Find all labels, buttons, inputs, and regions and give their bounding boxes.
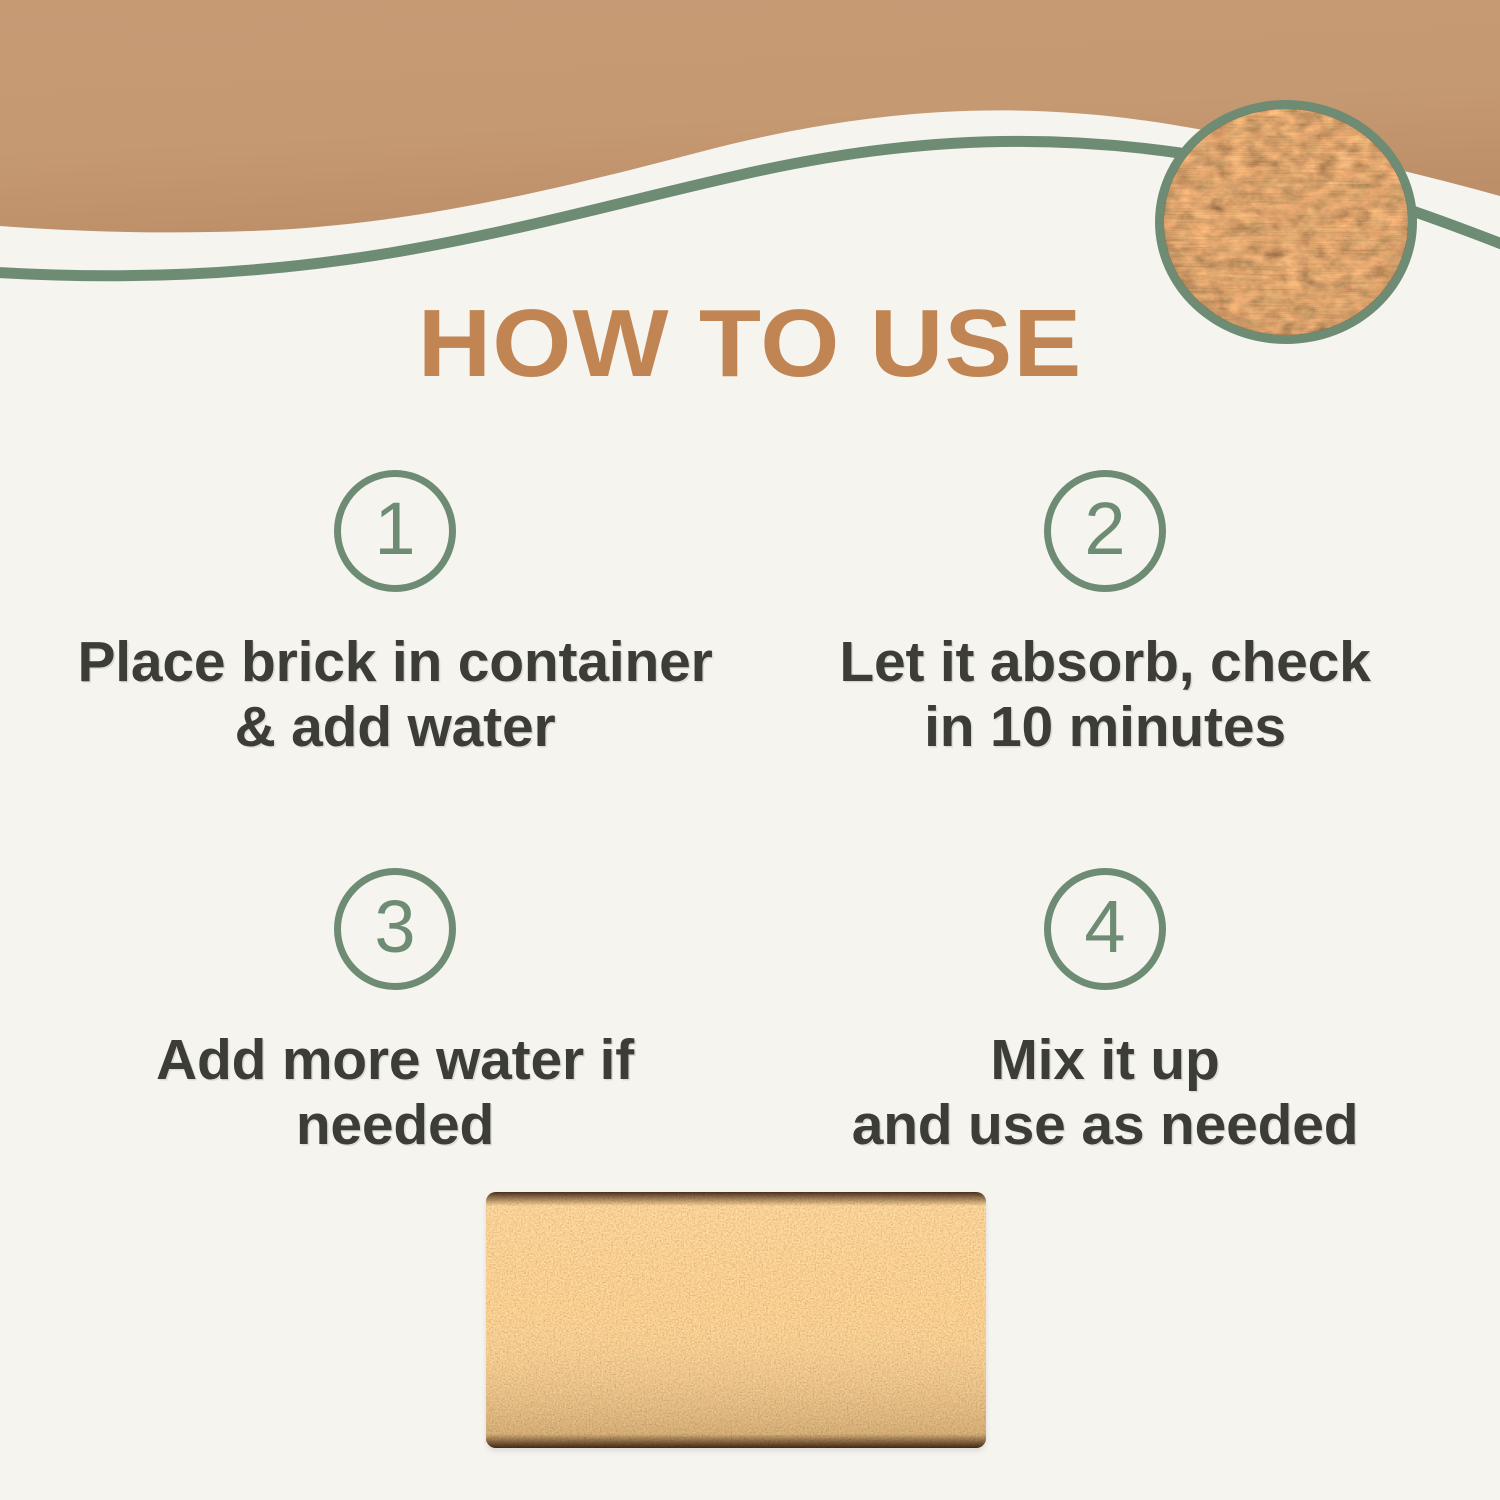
step-3: 3 Add more water if needed bbox=[40, 868, 750, 1158]
page-title: HOW TO USE bbox=[0, 296, 1500, 392]
step-4-number-badge: 4 bbox=[1044, 868, 1166, 990]
coco-coir-brick-image bbox=[486, 1192, 986, 1448]
step-1-label: Place brick in container & add water bbox=[77, 630, 712, 760]
step-4-label: Mix it up and use as needed bbox=[852, 1028, 1359, 1158]
step-4: 4 Mix it up and use as needed bbox=[750, 868, 1460, 1158]
how-to-use-infographic: HOW TO USE 1 Place brick in container & … bbox=[0, 0, 1500, 1500]
step-1-number-badge: 1 bbox=[334, 470, 456, 592]
step-3-label: Add more water if needed bbox=[156, 1028, 634, 1158]
step-3-number-badge: 3 bbox=[334, 868, 456, 990]
steps-grid: 1 Place brick in container & add water 2… bbox=[40, 470, 1460, 1158]
step-1: 1 Place brick in container & add water bbox=[40, 470, 750, 760]
step-2-number-badge: 2 bbox=[1044, 470, 1166, 592]
step-2-label: Let it absorb, check in 10 minutes bbox=[839, 630, 1370, 760]
step-2: 2 Let it absorb, check in 10 minutes bbox=[750, 470, 1460, 760]
